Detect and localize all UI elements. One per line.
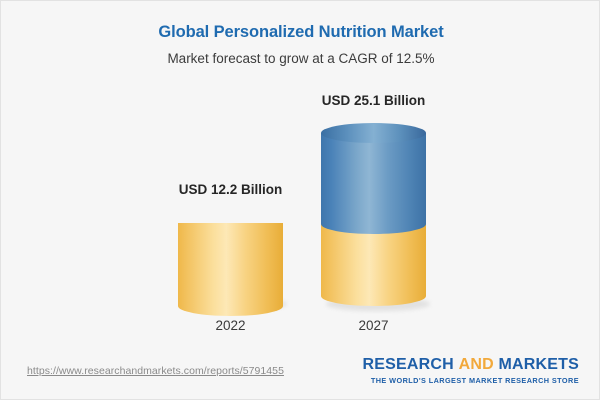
research-and-markets-logo[interactable]: RESEARCH AND MARKETS THE WORLD'S LARGEST… [363, 355, 579, 386]
cylinder-segment-divider-2027 [321, 214, 426, 234]
logo-word-markets: MARKETS [498, 356, 579, 373]
cylinder-upper-segment-2027 [321, 133, 426, 224]
chart-card: Global Personalized Nutrition Market Mar… [0, 0, 600, 400]
logo-wordmark: RESEARCH AND MARKETS [363, 355, 579, 374]
cylinder-top-cap-2027 [321, 123, 426, 143]
bar-value-label-2022: USD 12.2 Billion [131, 182, 331, 197]
logo-word-research: RESEARCH [363, 356, 454, 373]
cylinder-lower-segment-2027 [321, 224, 426, 296]
bar-value-label-2027: USD 25.1 Billion [274, 93, 474, 108]
source-url-link[interactable]: https://www.researchandmarkets.com/repor… [27, 365, 284, 377]
chart-footer: https://www.researchandmarkets.com/repor… [1, 351, 600, 399]
bar-cylinder-2027 [321, 123, 426, 306]
bar-category-label-2027: 2027 [274, 318, 474, 333]
cylinder-top-cap-2022 [178, 213, 283, 233]
logo-tagline: THE WORLD'S LARGEST MARKET RESEARCH STOR… [363, 374, 579, 386]
logo-word-and: AND [459, 356, 494, 373]
plot-area: USD 12.2 Billion 2022 USD 25.1 Billion [1, 1, 600, 346]
cylinder-body-2022 [178, 223, 283, 306]
bar-cylinder-2022 [178, 213, 283, 306]
